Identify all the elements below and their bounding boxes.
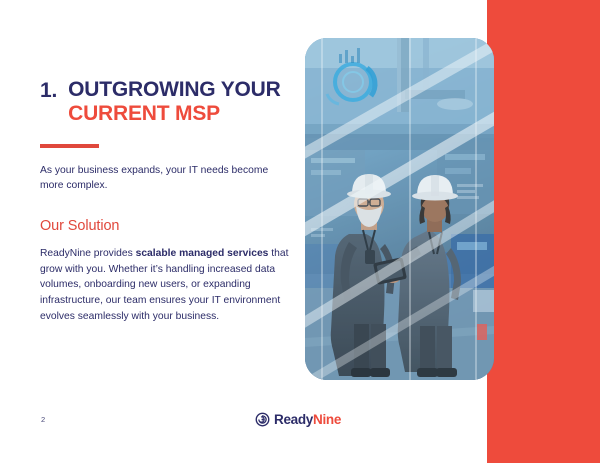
intro-paragraph: As your business expands, your IT needs …	[40, 163, 290, 194]
solution-text-lead: ReadyNine provides	[40, 248, 136, 259]
heading-line-1: OUTGROWING YOUR	[68, 78, 280, 102]
page-title: 1. OUTGROWING YOUR CURRENT MSP	[40, 78, 290, 127]
text-column: 1. OUTGROWING YOUR CURRENT MSP As your b…	[40, 78, 290, 335]
hero-photo-illustration	[305, 38, 494, 380]
solution-subheading: Our Solution	[40, 218, 290, 234]
logo-word-ready: Ready	[274, 412, 313, 427]
solution-text-emphasis: scalable managed services	[136, 248, 269, 259]
solution-text-rest: that grow with you. Whether it’s handlin…	[40, 248, 288, 322]
page-number: 2	[41, 415, 45, 424]
spiral-circle-icon	[255, 412, 270, 427]
heading-line-2: CURRENT MSP	[68, 102, 280, 126]
right-red-panel	[487, 0, 600, 463]
brand-logo: ReadyNine	[255, 412, 341, 427]
logo-wordmark: ReadyNine	[274, 413, 341, 427]
slide-page: 1. OUTGROWING YOUR CURRENT MSP As your b…	[0, 0, 600, 463]
solution-paragraph: ReadyNine provides scalable managed serv…	[40, 246, 290, 324]
heading-lines: OUTGROWING YOUR CURRENT MSP	[68, 78, 280, 127]
accent-rule	[40, 144, 99, 148]
logo-word-nine: Nine	[313, 412, 341, 427]
heading-number: 1.	[40, 78, 57, 103]
hero-photo	[305, 38, 494, 380]
